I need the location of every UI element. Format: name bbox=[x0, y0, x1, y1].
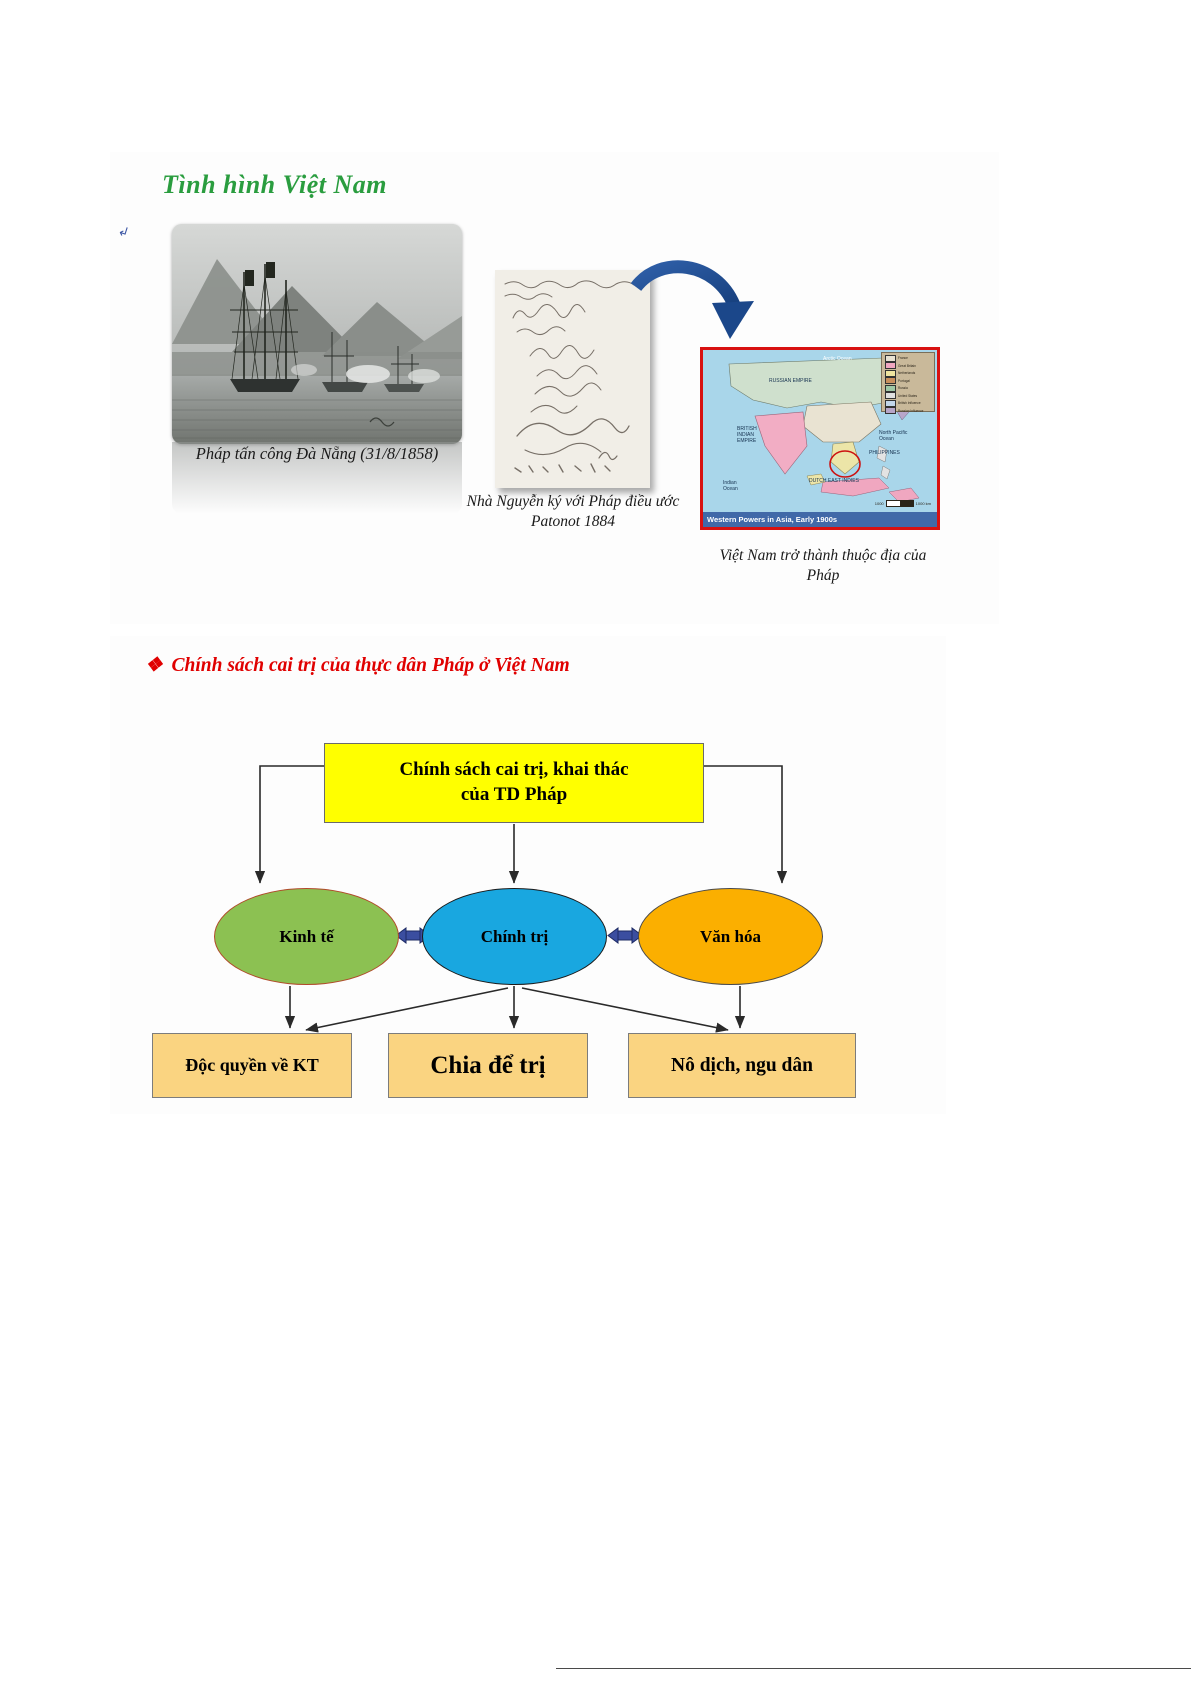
asia-colonial-map: Arctic Ocean RUSSIAN EMPIRE BRITISH INDI… bbox=[700, 347, 940, 530]
asia-map-image: Arctic Ocean RUSSIAN EMPIRE BRITISH INDI… bbox=[703, 350, 937, 527]
danang-photo-image bbox=[172, 224, 462, 444]
curved-arrow-icon bbox=[630, 257, 760, 347]
map-label-british-indian-empire: BRITISH INDIAN EMPIRE bbox=[737, 426, 771, 444]
legend-swatch-portugal bbox=[885, 377, 896, 384]
diagram-canvas: Chính sách cai trị, khai thác của TD Phá… bbox=[110, 688, 946, 1108]
legend-swatch-russian-influence bbox=[885, 407, 896, 414]
legend-swatch-russia bbox=[885, 385, 896, 392]
legend-label: Great Britain bbox=[898, 364, 916, 368]
section-heading: ❖Chính sách cai trị của thực dân Pháp ở … bbox=[145, 653, 570, 677]
map-scale-rule bbox=[886, 500, 914, 507]
outcome-label: Nô dịch, ngu dân bbox=[671, 1055, 813, 1077]
treaty-caption: Nhà Nguyễn ký với Pháp điều ước Patonot … bbox=[462, 492, 684, 531]
treaty-document-image bbox=[495, 270, 650, 488]
map-scale-bar: 1000 1000 km bbox=[875, 500, 931, 507]
legend-label: Russia bbox=[898, 386, 908, 390]
map-label-russian-empire: RUSSIAN EMPIRE bbox=[769, 378, 812, 384]
legend-label: British Influence bbox=[898, 401, 921, 405]
legend-item: Netherlands bbox=[885, 370, 931, 377]
diamond-bullet-icon: ❖ bbox=[145, 653, 162, 677]
bidirectional-link bbox=[608, 928, 642, 943]
legend-swatch-france bbox=[885, 355, 896, 362]
map-legend: France Great Britain Netherlands Portuga… bbox=[881, 352, 935, 412]
danang-photo-caption: Pháp tấn công Đà Nẵng (31/8/1858) bbox=[172, 444, 462, 464]
return-mark-icon: ↲ bbox=[116, 223, 131, 242]
root-node-policy[interactable]: Chính sách cai trị, khai thác của TD Phá… bbox=[324, 743, 704, 823]
legend-swatch-united-states bbox=[885, 392, 896, 399]
legend-item: Russian Influence bbox=[885, 408, 931, 415]
policy-diagram-panel: ❖Chính sách cai trị của thực dân Pháp ở … bbox=[110, 636, 946, 1114]
outcome-node-no-dich[interactable]: Nô dịch, ngu dân bbox=[628, 1033, 856, 1098]
outcome-label: Chia để trị bbox=[430, 1052, 545, 1080]
legend-item: Russia bbox=[885, 385, 931, 392]
page-title: Tình hình Việt Nam bbox=[162, 170, 387, 200]
legend-label: United States bbox=[898, 394, 917, 398]
legend-item: United States bbox=[885, 393, 931, 400]
root-node-line2: của TD Pháp bbox=[399, 783, 628, 808]
situation-vietnam-panel: Tình hình Việt Nam ↲ bbox=[110, 152, 999, 624]
map-label-indian-ocean: Indian Ocean bbox=[723, 480, 749, 492]
branch-node-chinh-tri[interactable]: Chính trị bbox=[422, 888, 607, 985]
map-title-bar: Western Powers in Asia, Early 1900s bbox=[703, 512, 937, 527]
legend-label: Portugal bbox=[898, 379, 910, 383]
branch-label: Kinh tế bbox=[279, 927, 333, 947]
legend-label: France bbox=[898, 356, 908, 360]
legend-swatch-netherlands bbox=[885, 370, 896, 377]
legend-swatch-british-influence bbox=[885, 400, 896, 407]
branch-label: Văn hóa bbox=[700, 927, 761, 947]
treaty-handwriting-graphic bbox=[495, 270, 650, 488]
map-label-philippines: PHILIPPINES bbox=[869, 450, 900, 456]
map-label-arctic: Arctic Ocean bbox=[823, 356, 852, 362]
legend-label: Russian Influence bbox=[898, 409, 923, 413]
legend-swatch-great-britain bbox=[885, 362, 896, 369]
map-caption: Việt Nam trở thành thuộc địa của Pháp bbox=[708, 546, 938, 585]
danang-engraving-graphic bbox=[172, 224, 462, 444]
legend-item: Great Britain bbox=[885, 363, 931, 370]
legend-item: France bbox=[885, 355, 931, 362]
map-scale-units: 1000 km bbox=[916, 501, 931, 506]
map-label-north-pacific: North Pacific Ocean bbox=[879, 430, 909, 442]
map-scale-zero: 1000 bbox=[875, 501, 884, 506]
outcome-label: Độc quyền về KT bbox=[185, 1055, 319, 1076]
branch-node-kinh-te[interactable]: Kinh tế bbox=[214, 888, 399, 985]
branch-label: Chính trị bbox=[481, 927, 549, 947]
map-label-dutch-east-indies: DUTCH EAST INDIES bbox=[809, 478, 859, 484]
legend-label: Netherlands bbox=[898, 371, 915, 375]
outcome-node-doc-quyen[interactable]: Độc quyền về KT bbox=[152, 1033, 352, 1098]
danang-photo bbox=[172, 224, 462, 444]
legend-item: Portugal bbox=[885, 378, 931, 385]
root-node-line1: Chính sách cai trị, khai thác bbox=[399, 758, 628, 783]
footer-divider bbox=[556, 1668, 1191, 1669]
outcome-node-chia-de-tri[interactable]: Chia để trị bbox=[388, 1033, 588, 1098]
legend-item: British Influence bbox=[885, 400, 931, 407]
section-heading-text: Chính sách cai trị của thực dân Pháp ở V… bbox=[171, 655, 569, 676]
branch-node-van-hoa[interactable]: Văn hóa bbox=[638, 888, 823, 985]
